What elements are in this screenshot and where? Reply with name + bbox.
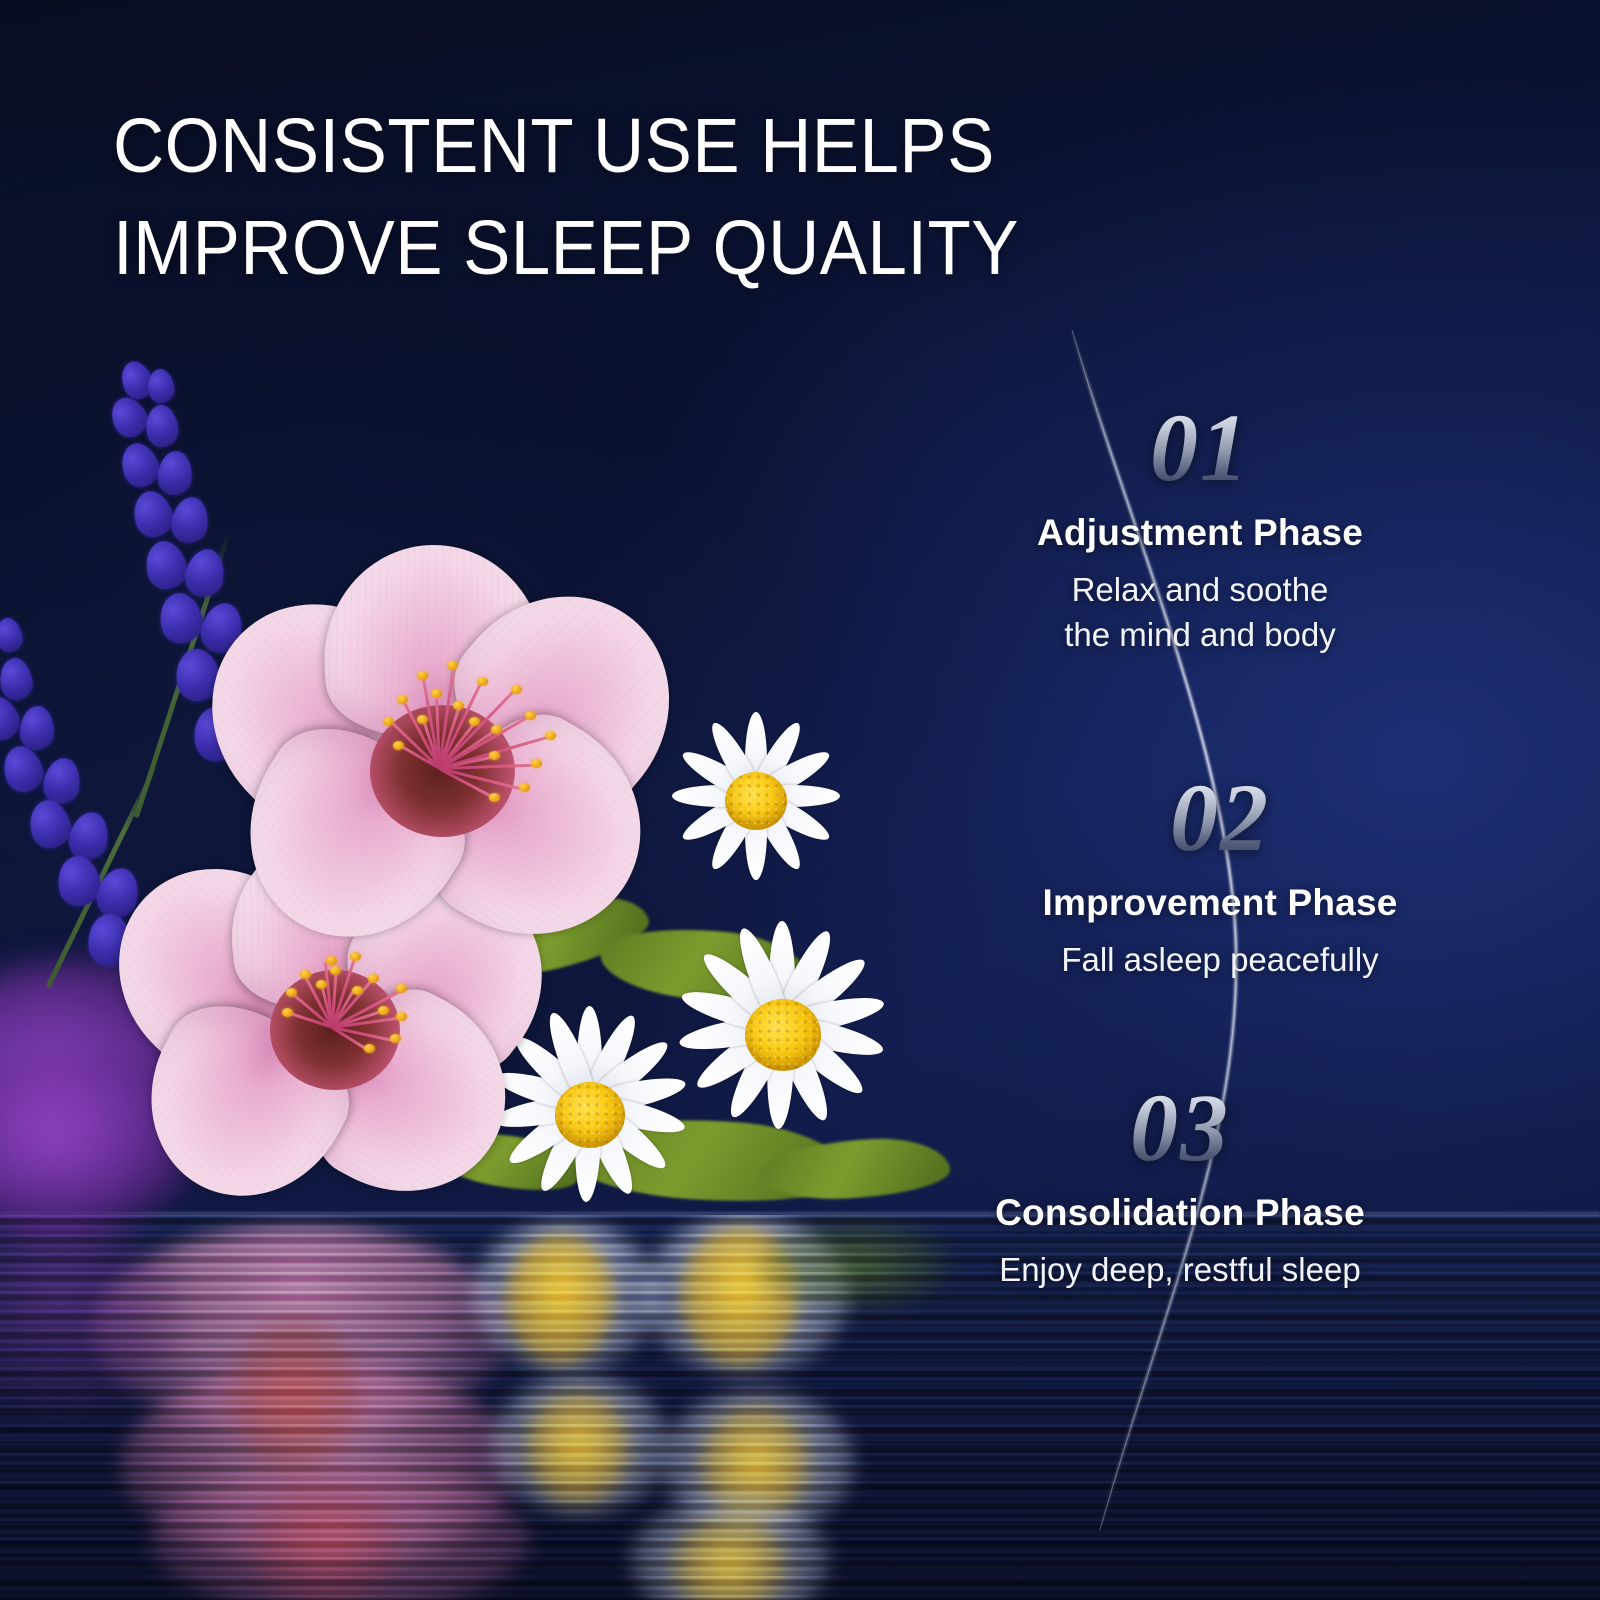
step-number-03: 03 <box>860 1080 1500 1176</box>
phase-step-03: 03 Consolidation Phase Enjoy deep, restf… <box>860 1080 1500 1293</box>
headline-line-2: IMPROVE SLEEP QUALITY <box>113 198 1199 300</box>
step-description-01: Relax and soothe the mind and body <box>880 568 1520 658</box>
step-desc-line-1: Enjoy deep, restful sleep <box>860 1248 1500 1293</box>
step-number-01: 01 <box>880 400 1520 496</box>
phase-step-01: 01 Adjustment Phase Relax and soothe the… <box>880 400 1520 658</box>
step-desc-line-2: the mind and body <box>880 613 1520 658</box>
stamen-cluster <box>332 1026 334 1028</box>
step-desc-line-1: Fall asleep peacefully <box>900 938 1540 983</box>
step-title-01: Adjustment Phase <box>880 512 1520 554</box>
step-description-02: Fall asleep peacefully <box>900 938 1540 983</box>
step-desc-line-1: Relax and soothe <box>880 568 1520 613</box>
phase-step-02: 02 Improvement Phase Fall asleep peacefu… <box>900 770 1540 983</box>
step-title-03: Consolidation Phase <box>860 1192 1500 1234</box>
page-title: CONSISTENT USE HELPS IMPROVE SLEEP QUALI… <box>113 96 1199 299</box>
cherry-blossom-main <box>195 545 695 975</box>
step-description-03: Enjoy deep, restful sleep <box>860 1248 1500 1293</box>
step-title-02: Improvement Phase <box>900 882 1540 924</box>
stamen-cluster <box>439 767 441 769</box>
infographic-canvas: CONSISTENT USE HELPS IMPROVE SLEEP QUALI… <box>0 0 1600 1600</box>
step-number-02: 02 <box>900 770 1540 866</box>
headline-line-1: CONSISTENT USE HELPS <box>113 96 1199 198</box>
